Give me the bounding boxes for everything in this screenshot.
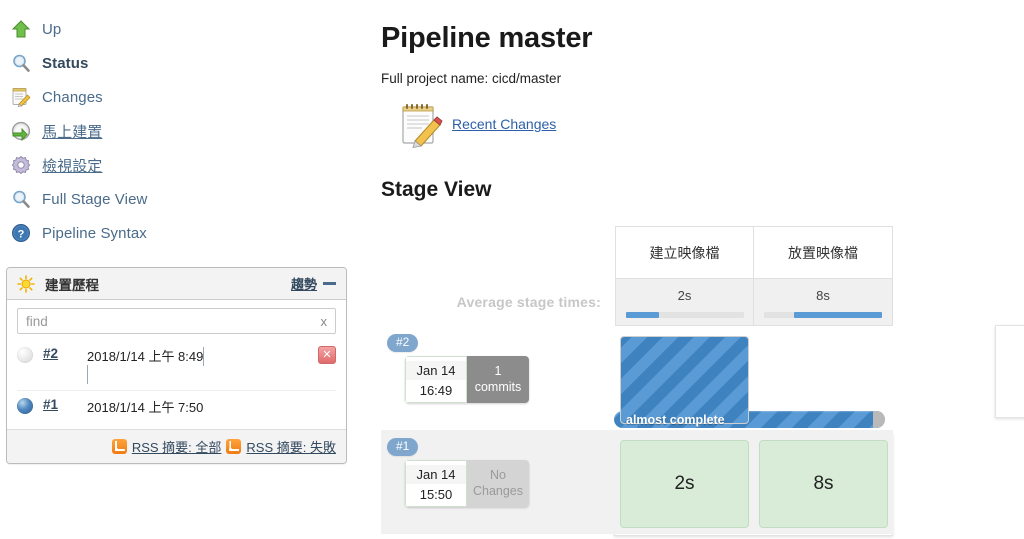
stage-run-row: #1 Jan 14 15:50 No Changes 2s — [381, 430, 893, 534]
recent-changes-link[interactable]: Recent Changes — [452, 116, 556, 132]
magnifier-icon — [8, 187, 38, 211]
stage-view-header-spacer — [381, 226, 615, 278]
stage-cell[interactable] — [754, 332, 893, 424]
main-content: Pipeline master Full project name: cicd/… — [381, 0, 1024, 202]
build-number-link[interactable]: #1 — [43, 397, 87, 412]
search-input-placeholder: find — [26, 314, 48, 329]
build-history-title: 建置歷程 — [45, 274, 99, 294]
run-datebox[interactable]: Jan 14 16:49 1 commits — [405, 356, 529, 403]
stage-cell[interactable]: 8s — [754, 436, 893, 528]
trend-dash-icon[interactable] — [323, 282, 336, 285]
rss-icon — [226, 439, 241, 454]
sidebar-task-list: Up Status — [0, 0, 360, 250]
clear-search-icon[interactable]: x — [321, 314, 328, 329]
stage-column-header[interactable]: 放置映像檔 — [754, 226, 893, 278]
average-stage-times-row: Average stage times: 2s 8s — [381, 278, 893, 326]
sidebar-item-pipeline-syntax[interactable]: ? Pipeline Syntax — [0, 216, 360, 250]
run-date-time: Jan 14 16:49 — [405, 356, 467, 403]
build-history-panel: 建置歷程 趨勢 find x #2 2018/1/14 上午 8:4 — [6, 267, 347, 464]
stage-status-success[interactable]: 8s — [759, 440, 888, 528]
average-stage-time-cell: 8s — [754, 278, 893, 326]
run-time: 15:50 — [420, 484, 453, 502]
stage-run-info: #1 Jan 14 15:50 No Changes — [381, 430, 615, 534]
average-time-value: 2s — [678, 288, 692, 303]
build-history-row[interactable]: #1 2018/1/14 上午 7:50 — [17, 390, 336, 429]
weather-sun-icon — [17, 275, 35, 293]
run-date-time: Jan 14 15:50 — [405, 460, 467, 507]
notepad-pencil-icon — [398, 100, 444, 148]
close-icon: ✕ — [322, 350, 331, 361]
rss-icon — [112, 439, 127, 454]
sidebar-item-label: Changes — [42, 89, 103, 106]
sidebar-item-up[interactable]: Up — [0, 12, 360, 46]
stage-status-empty — [759, 336, 888, 422]
stage-run-info: #2 Jan 14 16:49 1 commits — [381, 326, 615, 430]
rss-all-link[interactable]: RSS 摘要: 全部 — [132, 437, 222, 456]
stage-view-header-row: 建立映像檔 放置映像檔 — [381, 226, 893, 278]
run-date: Jan 14 — [406, 361, 466, 380]
rss-failed-link[interactable]: RSS 摘要: 失敗 — [246, 437, 336, 456]
build-now-icon — [8, 119, 38, 143]
run-changes-count: No — [490, 468, 506, 484]
average-stage-time-cell: 2s — [615, 278, 754, 326]
sidebar-item-label: Pipeline Syntax — [42, 225, 147, 242]
sidebar-item-full-stage-view[interactable]: Full Stage View — [0, 182, 360, 216]
run-changes-count: 1 — [495, 364, 502, 380]
build-number-link[interactable]: #2 — [43, 346, 87, 361]
run-changes-box[interactable]: 1 commits — [467, 356, 529, 403]
build-history-rows: #2 2018/1/14 上午 8:49 ✕ #1 2018/1/14 上午 7… — [17, 340, 336, 429]
stage-row-card — [995, 325, 1024, 418]
stage-view-table: 建立映像檔 放置映像檔 Average stage times: 2s 8s #… — [381, 226, 893, 534]
sidebar: Up Status — [0, 0, 360, 250]
sidebar-item-label: 馬上建置 — [42, 121, 102, 142]
build-history-header: 建置歷程 趨勢 — [7, 268, 346, 300]
up-arrow-icon — [8, 17, 38, 41]
run-time: 16:49 — [420, 380, 453, 398]
help-icon: ? — [8, 221, 38, 245]
build-meta: 2018/1/14 上午 8:49 — [87, 346, 336, 384]
full-project-name: Full project name: cicd/master — [381, 71, 1024, 86]
build-history-row[interactable]: #2 2018/1/14 上午 8:49 ✕ — [17, 340, 336, 390]
sidebar-item-status[interactable]: Status — [0, 46, 360, 80]
sidebar-item-label: 檢視設定 — [42, 155, 102, 176]
trend-link[interactable]: 趨勢 — [291, 274, 317, 293]
jenkins-pipeline-page: Up Status — [0, 0, 1024, 539]
build-history-footer: RSS 摘要: 全部 RSS 摘要: 失敗 — [7, 429, 346, 463]
build-timestamp: 2018/1/14 上午 8:49 — [87, 349, 203, 364]
build-status-ball-icon — [17, 398, 33, 414]
run-number-badge[interactable]: #1 — [387, 438, 418, 456]
stage-status-running[interactable] — [620, 336, 749, 424]
run-number-badge[interactable]: #2 — [387, 334, 418, 352]
stage-status-success[interactable]: 2s — [620, 440, 749, 528]
stage-cell[interactable] — [615, 332, 754, 424]
sidebar-item-configure[interactable]: 檢視設定 — [0, 148, 360, 182]
build-timestamp: 2018/1/14 上午 7:50 — [87, 400, 203, 415]
delete-build-button[interactable]: ✕ — [318, 346, 336, 364]
stage-column-header[interactable]: 建立映像檔 — [615, 226, 754, 278]
build-history-header-actions: 趨勢 — [291, 274, 336, 293]
run-date: Jan 14 — [406, 465, 466, 484]
gear-icon — [8, 153, 38, 177]
stage-cell[interactable]: 2s — [615, 436, 754, 528]
run-changes-label: Changes — [473, 484, 523, 500]
sidebar-item-changes[interactable]: Changes — [0, 80, 360, 114]
svg-text:?: ? — [18, 229, 25, 241]
sidebar-item-build-now[interactable]: 馬上建置 — [0, 114, 360, 148]
search-input[interactable]: find x — [17, 308, 336, 334]
stage-view-heading: Stage View — [381, 178, 1024, 202]
stage-cells: 2s 8s — [615, 430, 893, 534]
run-changes-label: commits — [475, 380, 522, 396]
run-changes-box[interactable]: No Changes — [467, 460, 529, 507]
changes-notepad-icon — [8, 85, 38, 109]
build-meta: 2018/1/14 上午 7:50 — [87, 397, 336, 417]
sidebar-item-label: Status — [42, 55, 88, 72]
run-datebox[interactable]: Jan 14 15:50 No Changes — [405, 460, 529, 507]
magnifier-icon — [8, 51, 38, 75]
sidebar-item-label: Up — [42, 21, 61, 38]
build-history-body: find x #2 2018/1/14 上午 8:49 ✕ — [7, 300, 346, 429]
average-time-value: 8s — [816, 288, 830, 303]
average-stage-times-label: Average stage times: — [381, 278, 615, 326]
build-status-ball-icon — [17, 347, 33, 363]
average-time-bar — [626, 312, 744, 318]
page-title: Pipeline master — [381, 22, 1024, 55]
run-progress-text: almost complete — [614, 413, 725, 427]
recent-changes-row[interactable]: Recent Changes — [381, 100, 1024, 148]
sidebar-item-label: Full Stage View — [42, 191, 147, 208]
average-time-bar — [764, 312, 882, 318]
